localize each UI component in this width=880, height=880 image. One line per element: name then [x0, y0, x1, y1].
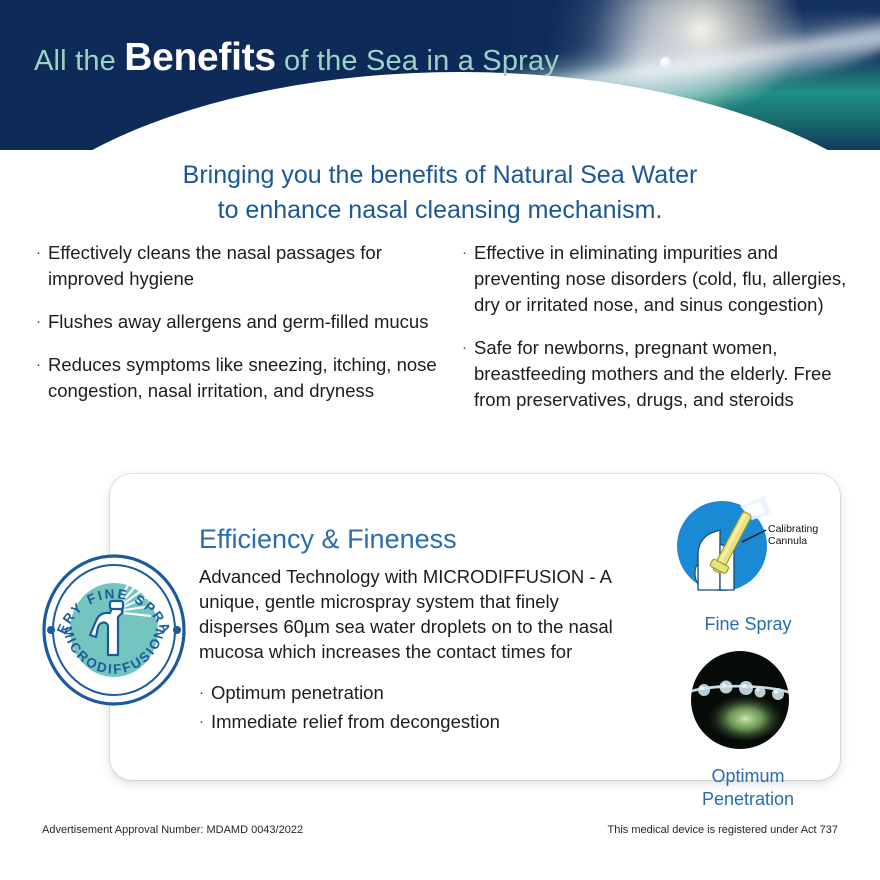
list-item: · Flushes away allergens and germ-filled…	[36, 309, 440, 335]
title-emphasis: Benefits	[124, 36, 275, 79]
subtitle: Bringing you the benefits of Natural Sea…	[0, 158, 880, 228]
calibrating-cannula-annotation-line-2: Cannula	[768, 535, 807, 547]
list-item: · Optimum penetration	[199, 680, 629, 706]
fine-spray-icon: Calibrating Cannula	[668, 494, 828, 602]
title-prefix: All the	[34, 45, 124, 77]
page-title: All the Benefits of the Sea in a Spray	[34, 38, 559, 77]
optimum-penetration-caption-line-1: Optimum	[668, 765, 828, 788]
optimum-penetration-block: Optimum Penetration	[668, 650, 828, 811]
bullet-dot-icon: ·	[199, 709, 211, 735]
list-item-label: Flushes away allergens and germ-filled m…	[48, 309, 440, 335]
list-item-label: Optimum penetration	[211, 680, 629, 706]
bullet-dot-icon: ·	[199, 680, 211, 706]
list-item-label: Reduces symptoms like sneezing, itching,…	[48, 352, 440, 404]
approval-number-text: Advertisement Approval Number: MDAMD 004…	[42, 824, 303, 836]
bullet-dot-icon: ·	[36, 240, 48, 292]
subtitle-line-2: to enhance nasal cleansing mechanism.	[0, 193, 880, 228]
optimum-penetration-caption-line-2: Penetration	[668, 788, 828, 811]
page-header: All the Benefits of the Sea in a Spray	[0, 0, 880, 150]
bullet-dot-icon: ·	[36, 309, 48, 335]
list-item: · Effectively cleans the nasal passages …	[36, 240, 440, 292]
bullet-dot-icon: ·	[462, 335, 474, 413]
bullet-dot-icon: ·	[462, 240, 474, 318]
list-item: · Reduces symptoms like sneezing, itchin…	[36, 352, 440, 404]
fine-spray-caption: Fine Spray	[668, 613, 828, 636]
title-suffix: of the Sea in a Spray	[276, 45, 559, 77]
very-fine-spray-badge-icon: VERY FINE SPRAY MICRODIFFUSION	[38, 551, 190, 709]
page-footer: Advertisement Approval Number: MDAMD 004…	[0, 824, 880, 836]
benefits-columns: · Effectively cleans the nasal passages …	[0, 240, 880, 430]
optimum-penetration-icon	[668, 650, 828, 754]
card-paragraph: Advanced Technology with MICRODIFFUSION …	[199, 564, 629, 664]
list-item-label: Effectively cleans the nasal passages fo…	[48, 240, 440, 292]
icon-spacer	[668, 636, 828, 650]
benefits-column-right: · Effective in eliminating impurities an…	[440, 240, 880, 430]
benefits-column-left: · Effectively cleans the nasal passages …	[0, 240, 440, 430]
list-item-label: Immediate relief from decongestion	[211, 709, 629, 735]
list-item-label: Safe for newborns, pregnant women, breas…	[474, 335, 862, 413]
list-item: · Effective in eliminating impurities an…	[462, 240, 862, 318]
optimum-penetration-caption: Optimum Penetration	[668, 765, 828, 811]
list-item: · Safe for newborns, pregnant women, bre…	[462, 335, 862, 413]
efficiency-card-content: Efficiency & Fineness Advanced Technolog…	[199, 522, 629, 738]
card-benefit-list: · Optimum penetration · Immediate relief…	[199, 680, 629, 735]
bullet-dot-icon: ·	[36, 352, 48, 404]
card-title: Efficiency & Fineness	[199, 522, 629, 556]
water-bubble-icon	[660, 57, 671, 68]
product-demo-icons: Calibrating Cannula Fine Spray	[668, 494, 828, 811]
fine-spray-block: Calibrating Cannula Fine Spray	[668, 494, 828, 636]
subtitle-line-1: Bringing you the benefits of Natural Sea…	[0, 158, 880, 193]
list-item: · Immediate relief from decongestion	[199, 709, 629, 735]
list-item-label: Effective in eliminating impurities and …	[474, 240, 862, 318]
calibrating-cannula-annotation-line-1: Calibrating	[768, 523, 818, 535]
registration-note-text: This medical device is registered under …	[607, 824, 838, 836]
